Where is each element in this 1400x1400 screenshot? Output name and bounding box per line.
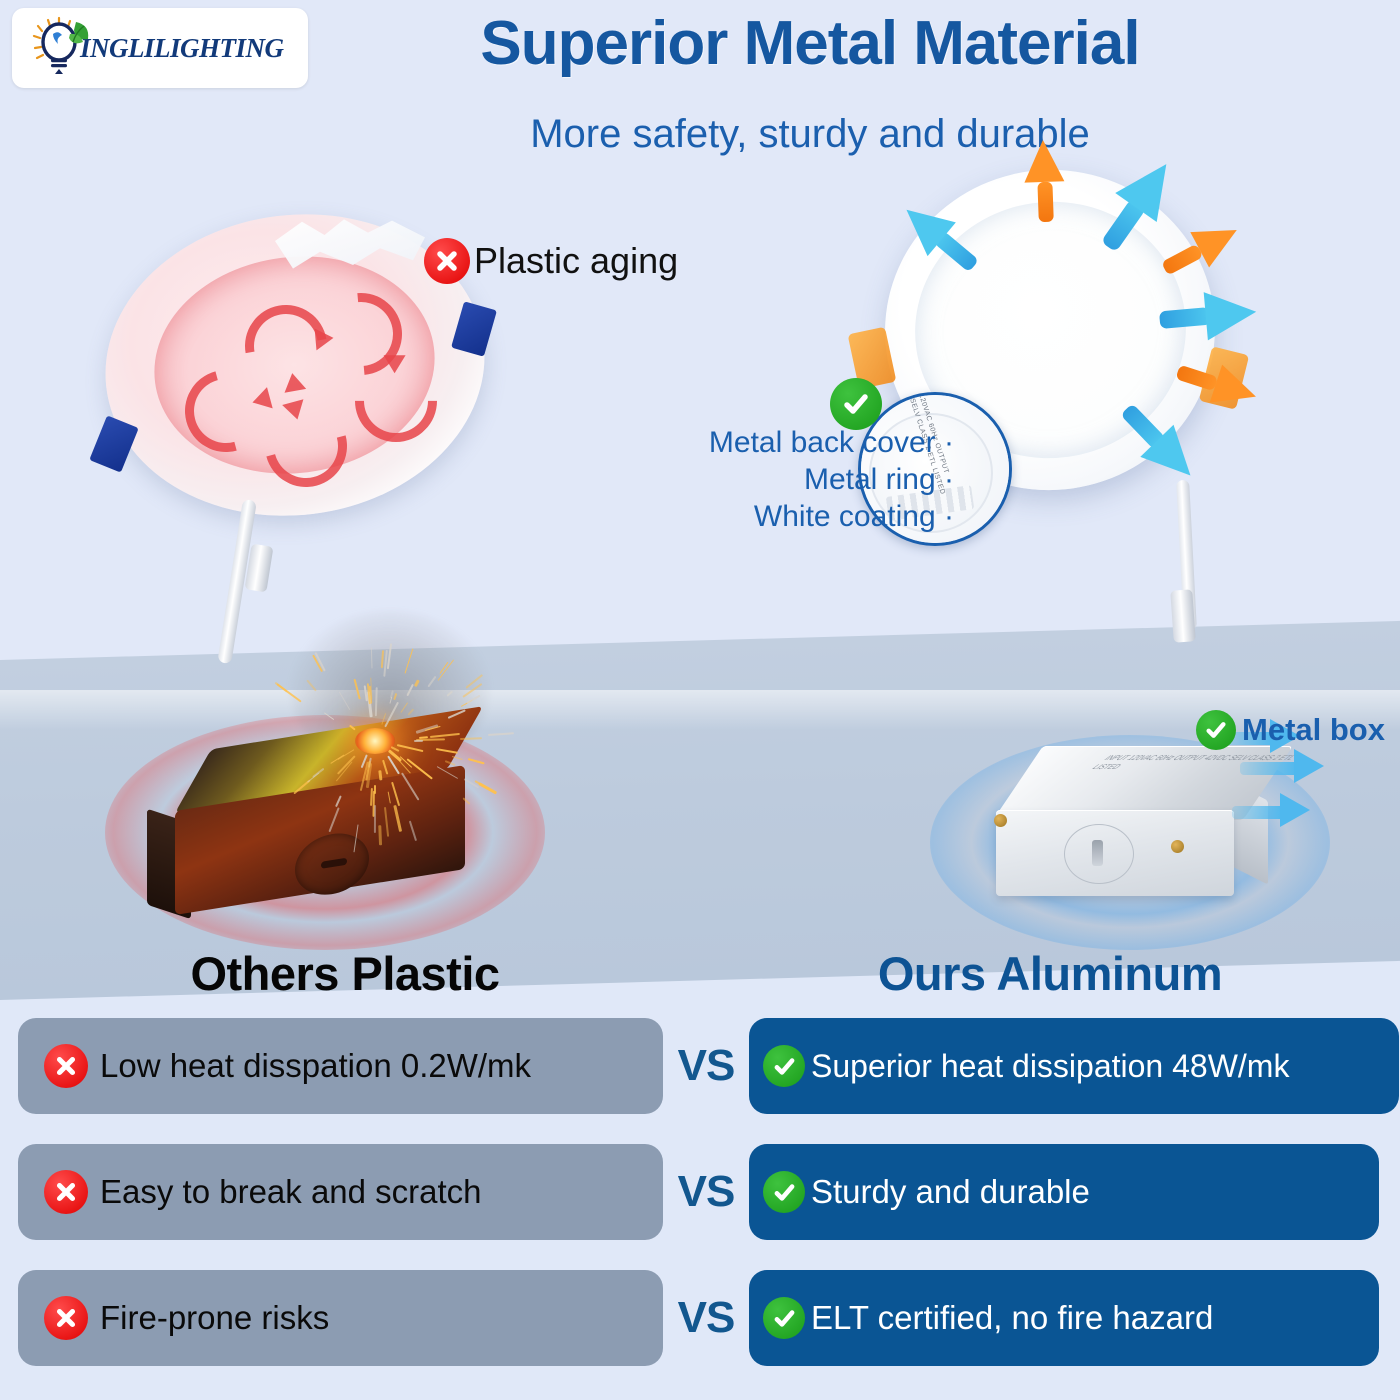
metal-box-front — [996, 810, 1234, 896]
red-x-icon — [44, 1170, 88, 1214]
metal-box-callout: Metal box — [1196, 710, 1385, 750]
vs-label: VS — [663, 1167, 749, 1217]
comparison-row: Easy to break and scratch VS Sturdy and … — [0, 1144, 1400, 1240]
comparison-row: Fire-prone risks VS ELT certified, no fi… — [0, 1270, 1400, 1366]
floor-highlight — [0, 690, 1400, 730]
plastic-aging-callout: Plastic aging — [424, 238, 678, 284]
page-subtitle: More safety, sturdy and durable — [310, 112, 1310, 157]
aluminum-pro-panel[interactable]: Superior heat dissipation 48W/mk — [749, 1018, 1399, 1114]
page-title: Superior Metal Material — [310, 8, 1310, 79]
green-check-icon — [1196, 710, 1236, 750]
airflow-arrow-icon — [1294, 749, 1324, 783]
aluminum-pro-text: Sturdy and durable — [811, 1173, 1090, 1211]
aluminum-pro-panel[interactable]: Sturdy and durable — [749, 1144, 1379, 1240]
metal-box-label: Metal box — [1242, 712, 1385, 748]
vs-label: VS — [663, 1041, 749, 1091]
metal-feature-item: Metal back cover · — [706, 424, 954, 461]
comparison-rows: Low heat disspation 0.2W/mk VS Superior … — [0, 1018, 1400, 1396]
metal-feature-item: Metal ring · — [706, 461, 954, 498]
infographic-page: INGLILIGHTING Superior Metal Material Mo… — [0, 0, 1400, 1400]
plastic-con-panel[interactable]: Fire-prone risks — [18, 1270, 663, 1366]
plastic-con-panel[interactable]: Easy to break and scratch — [18, 1144, 663, 1240]
red-x-icon — [44, 1044, 88, 1088]
metal-box-screw — [1171, 840, 1184, 853]
metal-box-screw — [994, 814, 1007, 827]
metal-box-slot — [1092, 840, 1103, 866]
plastic-aging-label: Plastic aging — [474, 240, 678, 282]
brand-logo: INGLILIGHTING — [12, 8, 308, 88]
aluminum-pro-text: ELT certified, no fire hazard — [811, 1299, 1213, 1337]
plastic-con-text: Fire-prone risks — [100, 1299, 329, 1337]
comparison-row: Low heat disspation 0.2W/mk VS Superior … — [0, 1018, 1400, 1114]
brand-name: INGLILIGHTING — [80, 33, 284, 64]
metal-light-connector — [1170, 589, 1196, 642]
comparison-heading-right: Ours Aluminum — [720, 946, 1380, 1001]
metal-feature-list: Metal back cover · Metal ring · White co… — [706, 424, 954, 535]
green-check-icon — [763, 1045, 805, 1087]
plastic-con-panel[interactable]: Low heat disspation 0.2W/mk — [18, 1018, 663, 1114]
green-check-icon — [763, 1171, 805, 1213]
airflow-arrow-icon — [1280, 793, 1310, 827]
aluminum-pro-panel[interactable]: ELT certified, no fire hazard — [749, 1270, 1379, 1366]
green-check-icon — [763, 1297, 805, 1339]
lightbulb-leaf-icon — [26, 12, 98, 84]
comparison-heading-left: Others Plastic — [0, 946, 690, 1001]
green-check-icon — [830, 378, 882, 430]
red-x-icon — [424, 238, 470, 284]
red-x-icon — [44, 1296, 88, 1340]
plastic-con-text: Low heat disspation 0.2W/mk — [100, 1047, 531, 1085]
metal-junction-box: INPUT 120VAC 60Hz OUTPUT 42VDC SELV CLAS… — [988, 748, 1258, 888]
airflow-arrow-tail — [1232, 806, 1284, 819]
airflow-arrow-tail — [1240, 762, 1298, 775]
vs-label: VS — [663, 1293, 749, 1343]
metal-feature-item: White coating · — [706, 498, 954, 535]
plastic-con-text: Easy to break and scratch — [100, 1173, 482, 1211]
aluminum-pro-text: Superior heat dissipation 48W/mk — [811, 1048, 1289, 1085]
